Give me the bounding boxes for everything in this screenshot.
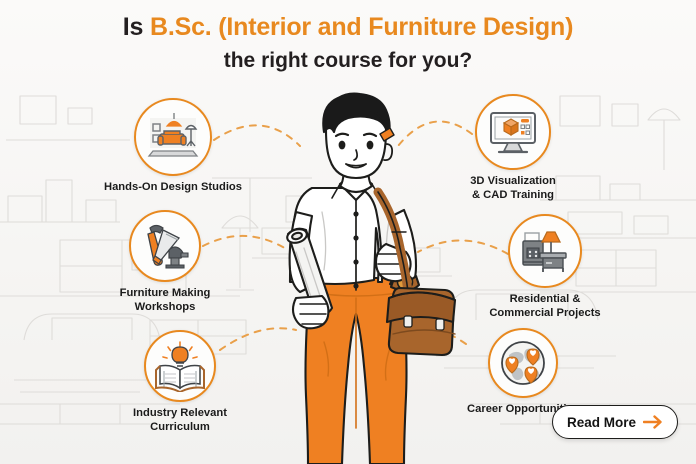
feature-icon-circle bbox=[144, 330, 216, 402]
feature-label-line-2: Commercial Projects bbox=[459, 307, 631, 321]
feature-label: Furniture Making Workshops bbox=[95, 287, 235, 314]
feature-label-line-2: Curriculum bbox=[110, 421, 250, 435]
feature-label-line-1: Residential & bbox=[459, 293, 631, 307]
headline-highlight: B.Sc. (Interior and Furniture Design) bbox=[150, 13, 573, 41]
feature-node-residential-commercial-projects[interactable]: Residential & Commercial Projects bbox=[459, 214, 631, 320]
feature-label-line-1: Industry Relevant bbox=[110, 407, 250, 421]
monitor-3d-cube-icon bbox=[486, 105, 540, 159]
interior-sofa-lamp-icon bbox=[145, 109, 201, 165]
feature-label-line-1: 3D Visualization bbox=[443, 175, 583, 189]
feature-node-career-opportunities[interactable]: Career Opportunities bbox=[453, 328, 593, 417]
feature-label-line-1: Furniture Making bbox=[95, 287, 235, 301]
read-more-label: Read More bbox=[567, 415, 636, 430]
headline-prefix: Is bbox=[123, 13, 150, 41]
student-illustration bbox=[252, 92, 462, 464]
feature-label: 3D Visualization & CAD Training bbox=[443, 175, 583, 202]
globe-map-pins-icon bbox=[497, 337, 549, 389]
feature-label: Residential & Commercial Projects bbox=[459, 293, 631, 320]
feature-icon-circle bbox=[488, 328, 558, 398]
feature-label: Hands-On Design Studios bbox=[103, 181, 243, 195]
feature-node-furniture-making-workshops[interactable]: Furniture Making Workshops bbox=[95, 210, 235, 314]
read-more-button[interactable]: Read More bbox=[552, 405, 678, 439]
feature-label-line-2: & CAD Training bbox=[443, 189, 583, 203]
feature-icon-circle bbox=[129, 210, 201, 282]
feature-icon-circle bbox=[508, 214, 582, 288]
headline-line-2: the right course for you? bbox=[0, 46, 696, 76]
hammer-saw-drill-icon bbox=[139, 220, 191, 272]
table-lamp-sideboard-icon bbox=[518, 224, 572, 278]
headline-block: Is B.Sc. (Interior and Furniture Design)… bbox=[0, 12, 696, 76]
feature-icon-circle bbox=[134, 98, 212, 176]
book-lightbulb-icon bbox=[154, 340, 206, 392]
feature-node-hands-on-design-studios[interactable]: Hands-On Design Studios bbox=[103, 98, 243, 195]
feature-label-line-2: Workshops bbox=[95, 301, 235, 315]
feature-icon-circle bbox=[475, 94, 551, 170]
arrow-right-icon bbox=[643, 415, 663, 429]
feature-node-industry-relevant-curriculum[interactable]: Industry Relevant Curriculum bbox=[110, 330, 250, 434]
feature-label: Industry Relevant Curriculum bbox=[110, 407, 250, 434]
infographic-canvas: Hands-On Design Studios Furniture Making bbox=[0, 0, 696, 464]
headline-line-1: Is B.Sc. (Interior and Furniture Design) bbox=[0, 12, 696, 42]
feature-node-3d-visualization-cad-training[interactable]: 3D Visualization & CAD Training bbox=[443, 94, 583, 202]
